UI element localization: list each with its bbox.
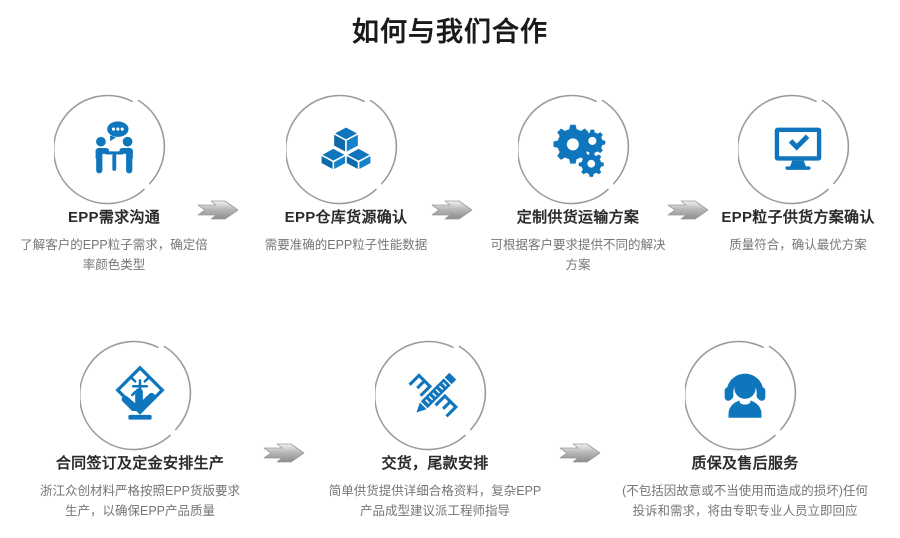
monitor-check-icon xyxy=(767,117,829,179)
step-2-desc: 需要准确的EPP粒子性能数据 xyxy=(241,235,451,255)
step-5-ring xyxy=(80,334,200,454)
step-3-desc: 可根据客户要求提供不同的解决方案 xyxy=(487,235,669,275)
step-4-ring xyxy=(738,88,858,208)
step-card-4: EPP粒子供货方案确认 质量符合，确认最优方案 xyxy=(696,88,900,255)
step-1-title: EPP需求沟通 xyxy=(0,208,228,228)
stacked-cubes-icon xyxy=(315,117,377,179)
arrow-step5-to-step6 xyxy=(262,440,306,466)
step-6-desc: 简单供货提供详细合格资料，复杂EPP产品成型建议派工程师指导 xyxy=(325,481,545,521)
step-2-title: EPP仓库货源确认 xyxy=(232,208,460,228)
step-card-3: 定制供货运输方案 可根据客户要求提供不同的解决方案 xyxy=(464,88,692,275)
step-7-ring xyxy=(685,334,805,454)
step-6-title: 交货，尾款安排 xyxy=(321,454,549,474)
step-7-desc: (不包括因故意或不当使用而造成的损坏)任何投诉和需求，将由专职专业人员立即回应 xyxy=(621,481,869,521)
step-1-desc: 了解客户的EPP粒子需求，确定倍率颜色类型 xyxy=(19,235,209,275)
step-4-title: EPP粒子供货方案确认 xyxy=(696,208,900,228)
pencil-ruler-icon xyxy=(404,363,466,425)
step-1-ring xyxy=(54,88,174,208)
step-4-desc: 质量符合，确认最优方案 xyxy=(703,235,893,255)
step-card-6: 交货，尾款安排 简单供货提供详细合格资料，复杂EPP产品成型建议派工程师指导 xyxy=(321,334,549,521)
hand-stamp-document-icon xyxy=(109,363,171,425)
step-card-7: 质保及售后服务 (不包括因故意或不当使用而造成的损坏)任何投诉和需求，将由专职专… xyxy=(618,334,872,521)
step-5-title: 合同签订及定金安排生产 xyxy=(26,454,254,474)
gears-icon xyxy=(547,117,609,179)
step-6-ring xyxy=(375,334,495,454)
step-7-title: 质保及售后服务 xyxy=(618,454,872,474)
people-discussion-icon xyxy=(83,117,145,179)
step-card-2: EPP仓库货源确认 需要准确的EPP粒子性能数据 xyxy=(232,88,460,255)
step-5-desc: 浙江众创材料严格按照EPP货版要求生产，以确保EPP产品质量 xyxy=(34,481,246,521)
step-2-ring xyxy=(286,88,406,208)
workflow-infographic: 如何与我们合作 xyxy=(0,0,900,538)
step-3-title: 定制供货运输方案 xyxy=(464,208,692,228)
step-3-ring xyxy=(518,88,638,208)
page-title: 如何与我们合作 xyxy=(0,14,900,50)
step-card-5: 合同签订及定金安排生产 浙江众创材料严格按照EPP货版要求生产，以确保EPP产品… xyxy=(26,334,254,521)
headset-support-icon xyxy=(714,363,776,425)
arrow-step6-to-step7 xyxy=(558,440,602,466)
step-card-1: EPP需求沟通 了解客户的EPP粒子需求，确定倍率颜色类型 xyxy=(0,88,228,275)
